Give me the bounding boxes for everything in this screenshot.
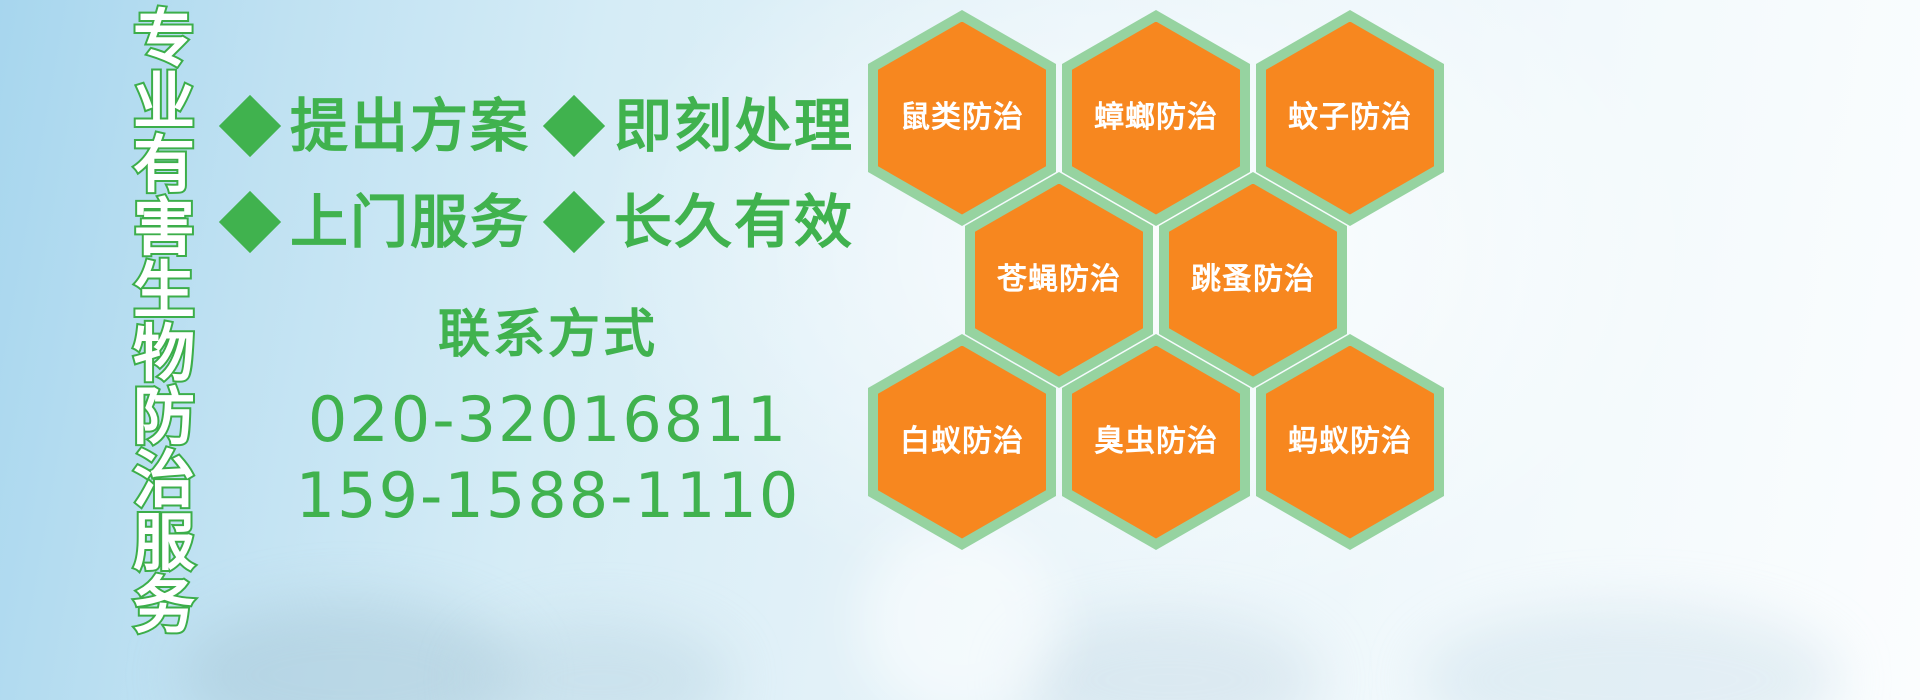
service-hexagon-fill: 蟑螂防治 [1072, 22, 1240, 215]
service-hexagon-label: 蚊子防治 [1288, 103, 1412, 133]
vertical-headline-char: 业 [133, 71, 195, 133]
service-hexagon-fill: 蚂蚁防治 [1266, 346, 1434, 539]
feature-bullet-item: 上门服务 [228, 193, 552, 251]
service-hexagon-label: 蚂蚁防治 [1288, 427, 1412, 457]
diamond-bullet-icon [219, 191, 281, 253]
background-blur-blob [180, 600, 520, 700]
background-blur-blob [1020, 615, 1320, 700]
feature-bullet-label: 提出方案 [290, 97, 530, 155]
service-hexagon-label: 跳蚤防治 [1191, 265, 1315, 295]
contact-phone-mobile[interactable]: 159-1588-1110 [268, 458, 828, 534]
feature-bullet-row: 上门服务 长久有效 [228, 174, 868, 270]
diamond-bullet-icon [543, 95, 605, 157]
service-hexagon-fill: 白蚁防治 [878, 346, 1046, 539]
vertical-headline-char: 生 [133, 260, 195, 322]
vertical-headline-char: 有 [133, 134, 195, 196]
feature-bullet-list: 提出方案 即刻处理 上门服务 长久有效 [228, 78, 868, 270]
background-blur-blob [1420, 605, 1840, 700]
pest-control-banner: 专 业 有 害 生 物 防 治 服 务 提出方案 即刻处理 上门服务 [0, 0, 1920, 700]
feature-bullet-label: 长久有效 [614, 193, 854, 251]
vertical-headline-char: 害 [133, 197, 195, 259]
service-hexagon-fill: 苍蝇防治 [975, 184, 1143, 377]
diamond-bullet-icon [543, 191, 605, 253]
service-hexagon-label: 蟑螂防治 [1094, 103, 1218, 133]
service-hexagon-fill: 臭虫防治 [1072, 346, 1240, 539]
background-blur-blob [470, 620, 730, 700]
service-hexagon-fill: 蚊子防治 [1266, 22, 1434, 215]
vertical-headline-char: 服 [133, 512, 195, 574]
feature-bullet-item: 提出方案 [228, 97, 552, 155]
vertical-headline-char: 务 [133, 575, 195, 637]
vertical-headline-char: 专 [133, 8, 195, 70]
service-hexagon-cluster: 鼠类防治 蟑螂防治 蚊子防治 苍蝇防治 跳蚤防治 白蚁防治 [862, 2, 1462, 562]
feature-bullet-label: 上门服务 [290, 193, 530, 251]
vertical-headline: 专 业 有 害 生 物 防 治 服 务 [108, 8, 220, 568]
service-hexagon-label: 臭虫防治 [1094, 427, 1218, 457]
service-hexagon-label: 苍蝇防治 [997, 265, 1121, 295]
service-hexagon-fill: 鼠类防治 [878, 22, 1046, 215]
feature-bullet-row: 提出方案 即刻处理 [228, 78, 868, 174]
contact-phone-landline[interactable]: 020-32016811 [268, 382, 828, 458]
vertical-headline-char: 防 [133, 386, 195, 448]
service-hexagon-fill: 跳蚤防治 [1169, 184, 1337, 377]
contact-heading: 联系方式 [268, 306, 828, 364]
vertical-headline-char: 治 [133, 449, 195, 511]
feature-bullet-item: 长久有效 [552, 193, 876, 251]
diamond-bullet-icon [219, 95, 281, 157]
feature-bullet-item: 即刻处理 [552, 97, 876, 155]
feature-bullet-label: 即刻处理 [614, 97, 854, 155]
service-hexagon-label: 白蚁防治 [900, 427, 1024, 457]
contact-block: 联系方式 020-32016811 159-1588-1110 [268, 306, 828, 534]
vertical-headline-char: 物 [133, 323, 195, 385]
service-hexagon-label: 鼠类防治 [900, 103, 1024, 133]
